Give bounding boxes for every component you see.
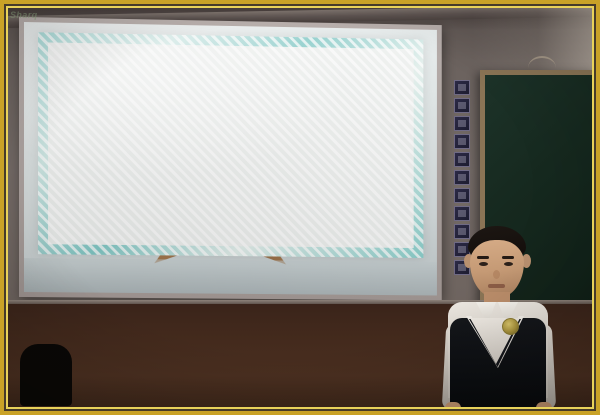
chair	[20, 344, 72, 406]
wall-placard	[454, 98, 470, 113]
school-emblem-icon	[502, 318, 519, 335]
officer-portrait	[84, 55, 207, 208]
portrait-medal-bar	[159, 206, 198, 209]
boy-eye	[504, 262, 513, 266]
wall-placard	[454, 206, 470, 221]
watermark: Sharq	[10, 10, 38, 20]
portrait-medals	[155, 182, 198, 204]
wall-placard	[454, 152, 470, 167]
wall-placard	[454, 134, 470, 149]
boy-eye	[479, 262, 488, 266]
wall-placard	[454, 188, 470, 203]
boy-nose	[493, 270, 500, 279]
boy-face	[470, 240, 524, 298]
portrait-mouth	[137, 138, 157, 142]
wall-placard	[454, 116, 470, 131]
screen-lower-band	[24, 258, 437, 295]
boy-hand	[445, 402, 461, 407]
portrait-brow	[151, 106, 164, 109]
medal	[166, 182, 174, 204]
classroom-photo: Нүркен Әбдіров Осы ерлігі үшін Н.Әбдіров…	[0, 0, 600, 415]
slide-body-text: Осы ерлігі үшін Н.Әбдіровке 1943 жылы на…	[224, 54, 410, 192]
screen-surface: Нүркен Әбдіров Осы ерлігі үшін Н.Әбдіров…	[24, 22, 437, 295]
slide-line: атағы берілді.	[224, 174, 410, 191]
portrait-collar-pip	[143, 166, 149, 172]
wall-placard	[454, 170, 470, 185]
boy-brow	[477, 256, 489, 259]
projection-screen: Нүркен Әбдіров Осы ерлігі үшін Н.Әбдіров…	[24, 22, 437, 295]
classroom-scene: Нүркен Әбдіров Осы ерлігі үшін Н.Әбдіров…	[8, 8, 592, 407]
presentation-slide: Нүркен Әбдіров Осы ерлігі үшін Н.Әбдіров…	[38, 32, 423, 258]
medal	[155, 182, 163, 204]
portrait-cap-badge	[141, 74, 150, 83]
wall-placard	[454, 80, 470, 95]
medal	[177, 182, 185, 204]
portrait-face	[114, 91, 179, 160]
boy-mouth	[488, 284, 505, 288]
boy-brow	[502, 256, 514, 259]
portrait-brow	[124, 106, 137, 109]
medal	[188, 182, 196, 204]
portrait-eye	[153, 112, 163, 116]
boy-hand	[536, 402, 552, 407]
schoolboy	[440, 226, 556, 407]
portrait-eye	[126, 112, 136, 116]
